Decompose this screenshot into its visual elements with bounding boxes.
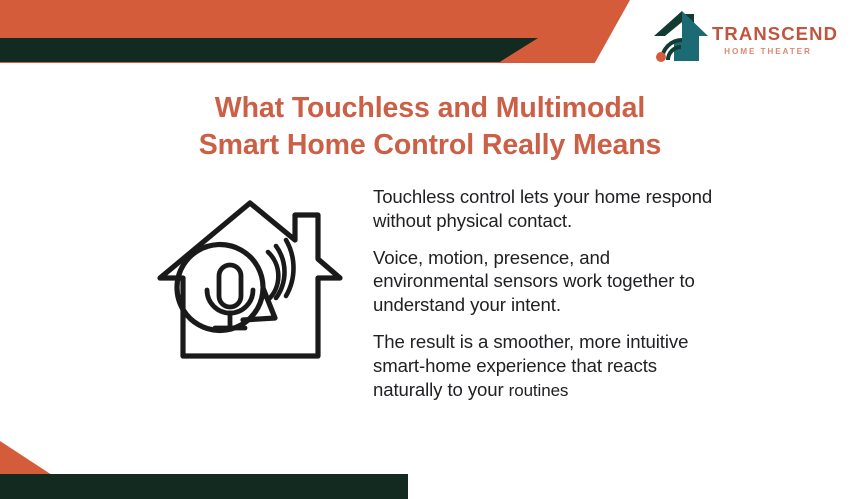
brand-logo[interactable]: TRANSCEND HOME THEATER [652,8,824,64]
smart-home-voice-icon [155,190,345,365]
paragraph-1-text: Touchless control lets your home respond… [373,186,712,231]
paragraph-1: Touchless control lets your home respond… [373,185,718,233]
top-green-bar [0,38,538,62]
brand-wordmark: TRANSCEND HOME THEATER [712,25,824,56]
headline-line-1: What Touchless and Multimodal [60,90,800,127]
slide-canvas: TRANSCEND HOME THEATER What Touchless an… [0,0,860,499]
bottom-orange-triangle [0,441,52,475]
bottom-green-bar [0,474,408,499]
paragraph-3: The result is a smoother, more intuitive… [373,330,718,401]
body-copy: Touchless control lets your home respond… [373,185,718,401]
brand-tagline: HOME THEATER [712,48,824,56]
paragraph-2-text: Voice, motion, presence, and environment… [373,247,695,316]
house-wifi-icon [652,8,710,64]
page-title: What Touchless and Multimodal Smart Home… [60,90,800,165]
paragraph-2: Voice, motion, presence, and environment… [373,246,718,317]
paragraph-3-tail: routines [509,381,569,400]
headline-line-2: Smart Home Control Really Means [60,127,800,164]
brand-name: TRANSCEND [712,25,824,44]
